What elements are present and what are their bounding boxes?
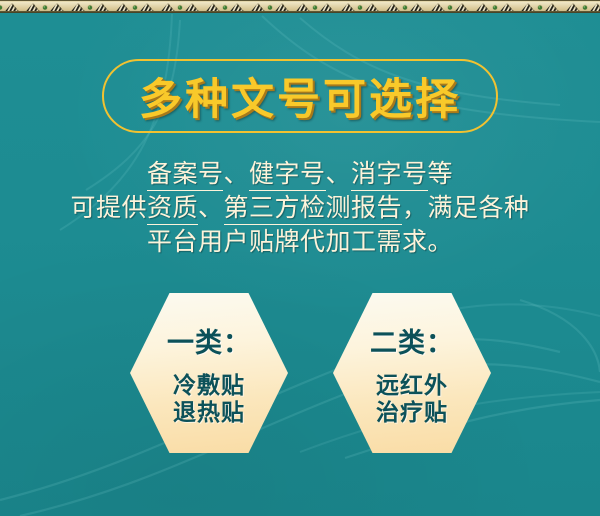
category-one-heading: 一类： (167, 321, 251, 360)
description-line: 备案号、健字号、消字号等 (28, 157, 572, 191)
highlighted-term: 备案号 (147, 159, 224, 191)
category-two-heading: 二类： (370, 321, 454, 360)
plain-text: ，满足各种 (402, 193, 530, 222)
category-two-item: 治疗贴 (376, 399, 448, 426)
highlighted-term: 资质 (147, 193, 198, 225)
category-two-item: 远红外 (376, 372, 448, 399)
highlighted-term: 健字号 (249, 159, 326, 191)
description-paragraph: 备案号、健字号、消字号等 可提供资质、第三方检测报告，满足各种 平台用户贴牌代加… (28, 157, 572, 259)
page-title: 多种文号可选择 (104, 65, 496, 127)
highlighted-term: 第三方检测报告 (224, 193, 403, 225)
description-line: 平台用户贴牌代加工需求。 (28, 225, 572, 259)
plain-text: 、 (326, 159, 352, 188)
plain-text: 、 (223, 159, 249, 188)
border-top-edge-line (0, 0, 600, 1)
plain-text: 可提供 (70, 193, 147, 222)
title-frame: 多种文号可选择 (102, 59, 498, 133)
plain-text: 、 (198, 193, 224, 222)
poster-canvas: 多种文号可选择 备案号、健字号、消字号等 可提供资质、第三方检测报告，满足各种 … (0, 0, 600, 516)
description-line: 可提供资质、第三方检测报告，满足各种 (28, 191, 572, 225)
top-ornamental-border (0, 0, 600, 13)
category-one-item: 退热贴 (173, 399, 245, 426)
plain-text: 平台用户贴牌代加工需求。 (147, 227, 453, 256)
plain-text: 等 (428, 159, 454, 188)
category-one-item: 冷敷贴 (173, 372, 245, 399)
border-bottom-edge-line (0, 11, 600, 13)
highlighted-term: 消字号 (351, 159, 428, 191)
